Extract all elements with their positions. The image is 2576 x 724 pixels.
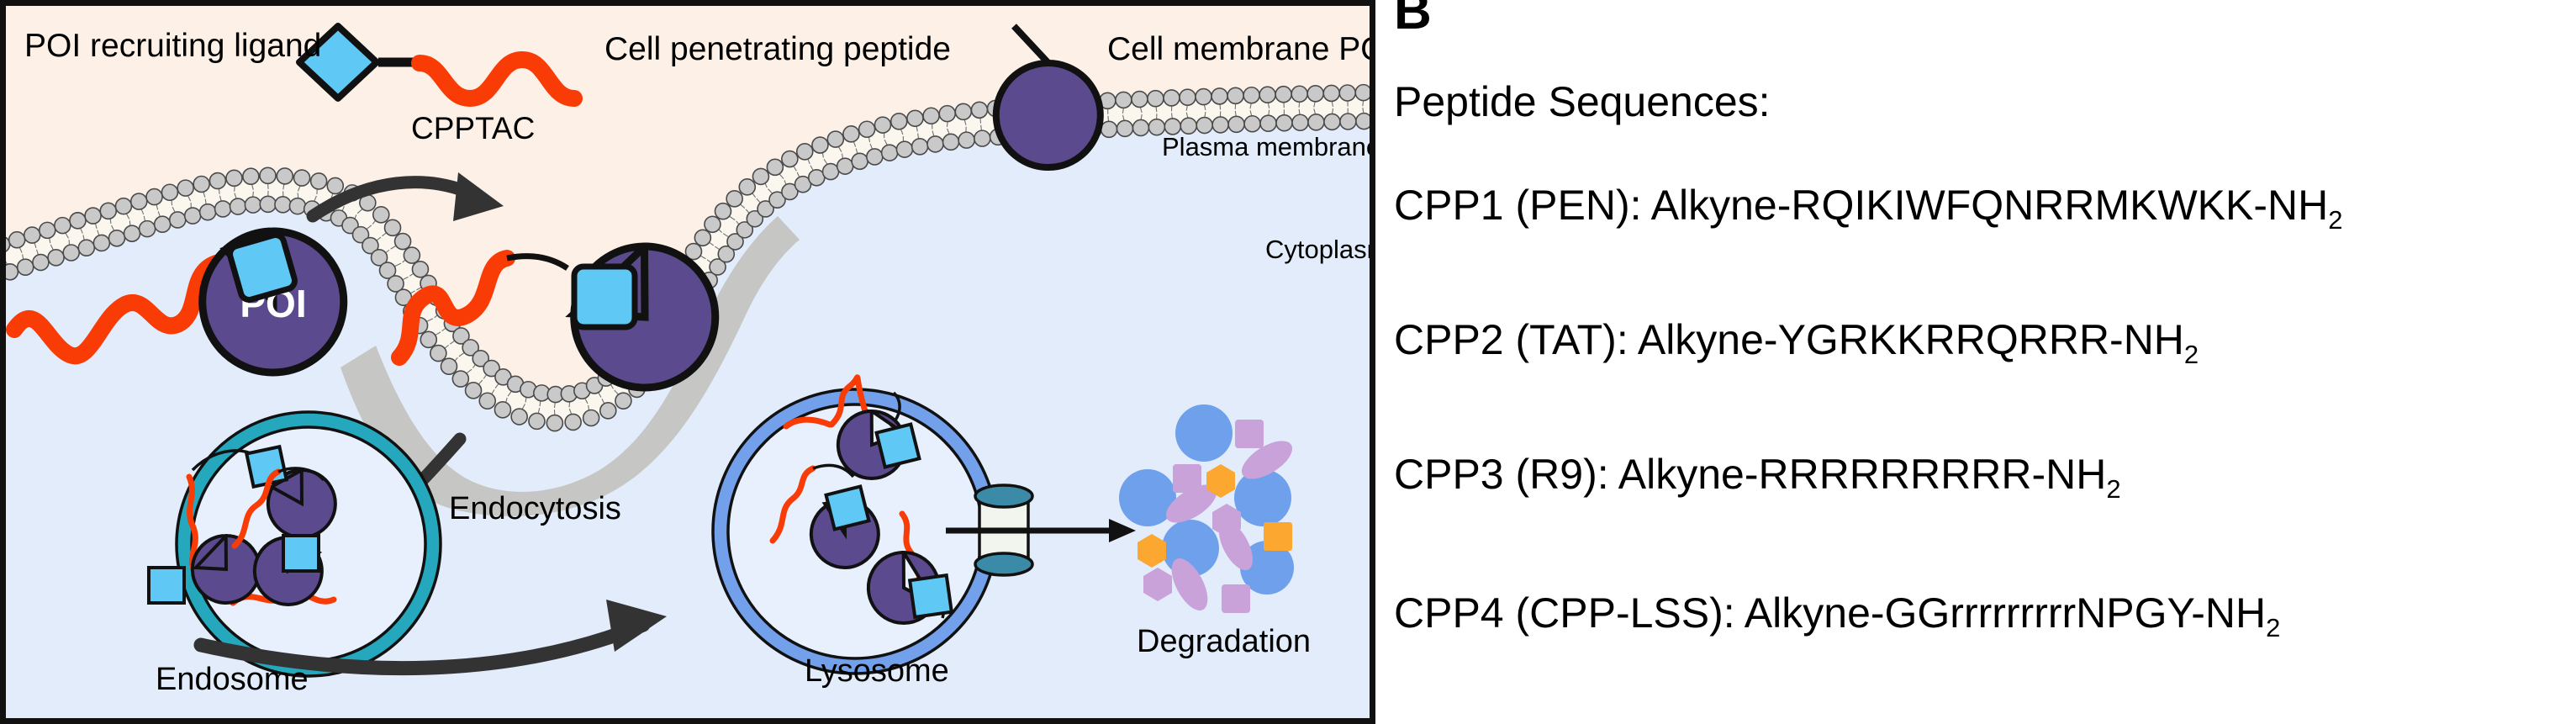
peptide-sequences-title: Peptide Sequences: [1394, 77, 1771, 126]
figure-root: POI [0, 0, 2576, 724]
endosome-label: Endosome [156, 662, 309, 698]
sequence-row-cpp1: CPP1 (PEN): Alkyne-RQIKIWFQNRRMKWKK-NH2 [1394, 181, 2342, 235]
sequence-subscript: 2 [2106, 474, 2120, 504]
panel-b-sequences: B Peptide Sequences: CPP1 (PEN): Alkyne-… [1375, 0, 2576, 724]
sequence-row-cpp3: CPP3 (R9): Alkyne-RRRRRRRRR-NH2 [1394, 450, 2121, 505]
sequence-subscript: 2 [2184, 340, 2199, 369]
sequence-row-cpp4: CPP4 (CPP-LSS): Alkyne-GGrrrrrrrrrNPGY-N… [1394, 589, 2280, 643]
cell-diagram-svg: POI [6, 6, 1370, 718]
lysosome-label: Lysosome [805, 653, 949, 690]
ligand-square-right [574, 267, 635, 327]
cpptac-construct-label: CPPTAC [411, 111, 535, 146]
legend-label-peptide: Cell penetrating peptide [604, 31, 951, 68]
legend-label-ligand: POI recruiting ligand [24, 28, 321, 65]
legend-label-poi: Cell membrane POI [1107, 31, 1375, 68]
panel-b-letter: B [1394, 0, 1432, 41]
panel-a-diagram: POI [0, 0, 1375, 724]
sequence-subscript: 2 [2328, 205, 2342, 235]
sequence-subscript: 2 [2266, 613, 2280, 642]
ligand-square-left [228, 233, 297, 302]
plasma-membrane-label: Plasma membrane [1162, 132, 1375, 162]
degradation-label: Degradation [1137, 624, 1311, 660]
cytoplasm-label: Cytoplasm [1265, 235, 1375, 265]
sequence-row-cpp2: CPP2 (TAT): Alkyne-YGRKKRRQRRR-NH2 [1394, 315, 2199, 370]
endocytosis-label: Endocytosis [449, 491, 621, 527]
